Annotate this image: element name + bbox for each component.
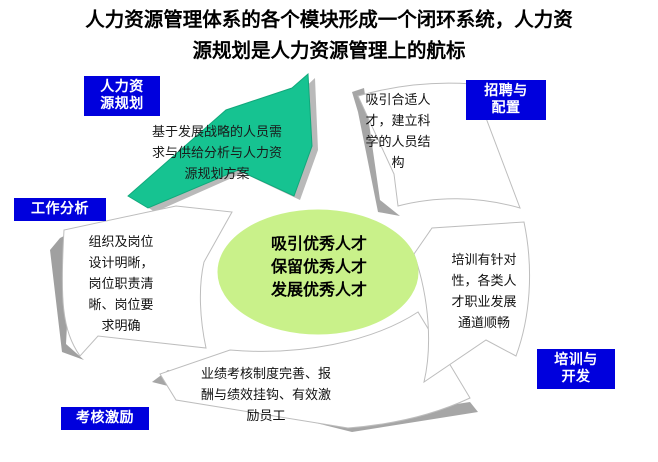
petal-text-appraisal: 业绩考核制度完善、报 酬与绩效挂钩、有效激 励员工 — [168, 364, 364, 427]
petal-text-recruitment: 吸引合适人 才，建立科 学的人员结 构 — [352, 90, 444, 174]
diagram-canvas: 人力资源管理体系的各个模块形成一个闭环系统，人力资 源规划是人力资源管理上的航标… — [0, 0, 658, 462]
module-label-job-analysis[interactable]: 工作分析 — [14, 198, 106, 221]
module-label-hr-planning[interactable]: 人力资 源规划 — [84, 76, 160, 116]
center-ellipse-text: 吸引优秀人才 保留优秀人才 发展优秀人才 — [224, 232, 414, 301]
petal-text-job-analysis: 组织及岗位 设计明晰， 岗位职责清 晰、岗位要 求明确 — [62, 232, 180, 337]
petal-text-hr-planning: 基于发展战略的人员需 求与供给分析与人力资 源规划方案 — [122, 122, 312, 185]
module-label-recruitment[interactable]: 招聘与 配置 — [466, 80, 546, 120]
petal-text-training: 培训有针对 性，各类人 才职业发展 通道顺畅 — [432, 250, 536, 334]
module-label-appraisal[interactable]: 考核激励 — [61, 407, 149, 430]
module-label-training[interactable]: 培训与 开发 — [537, 349, 615, 389]
